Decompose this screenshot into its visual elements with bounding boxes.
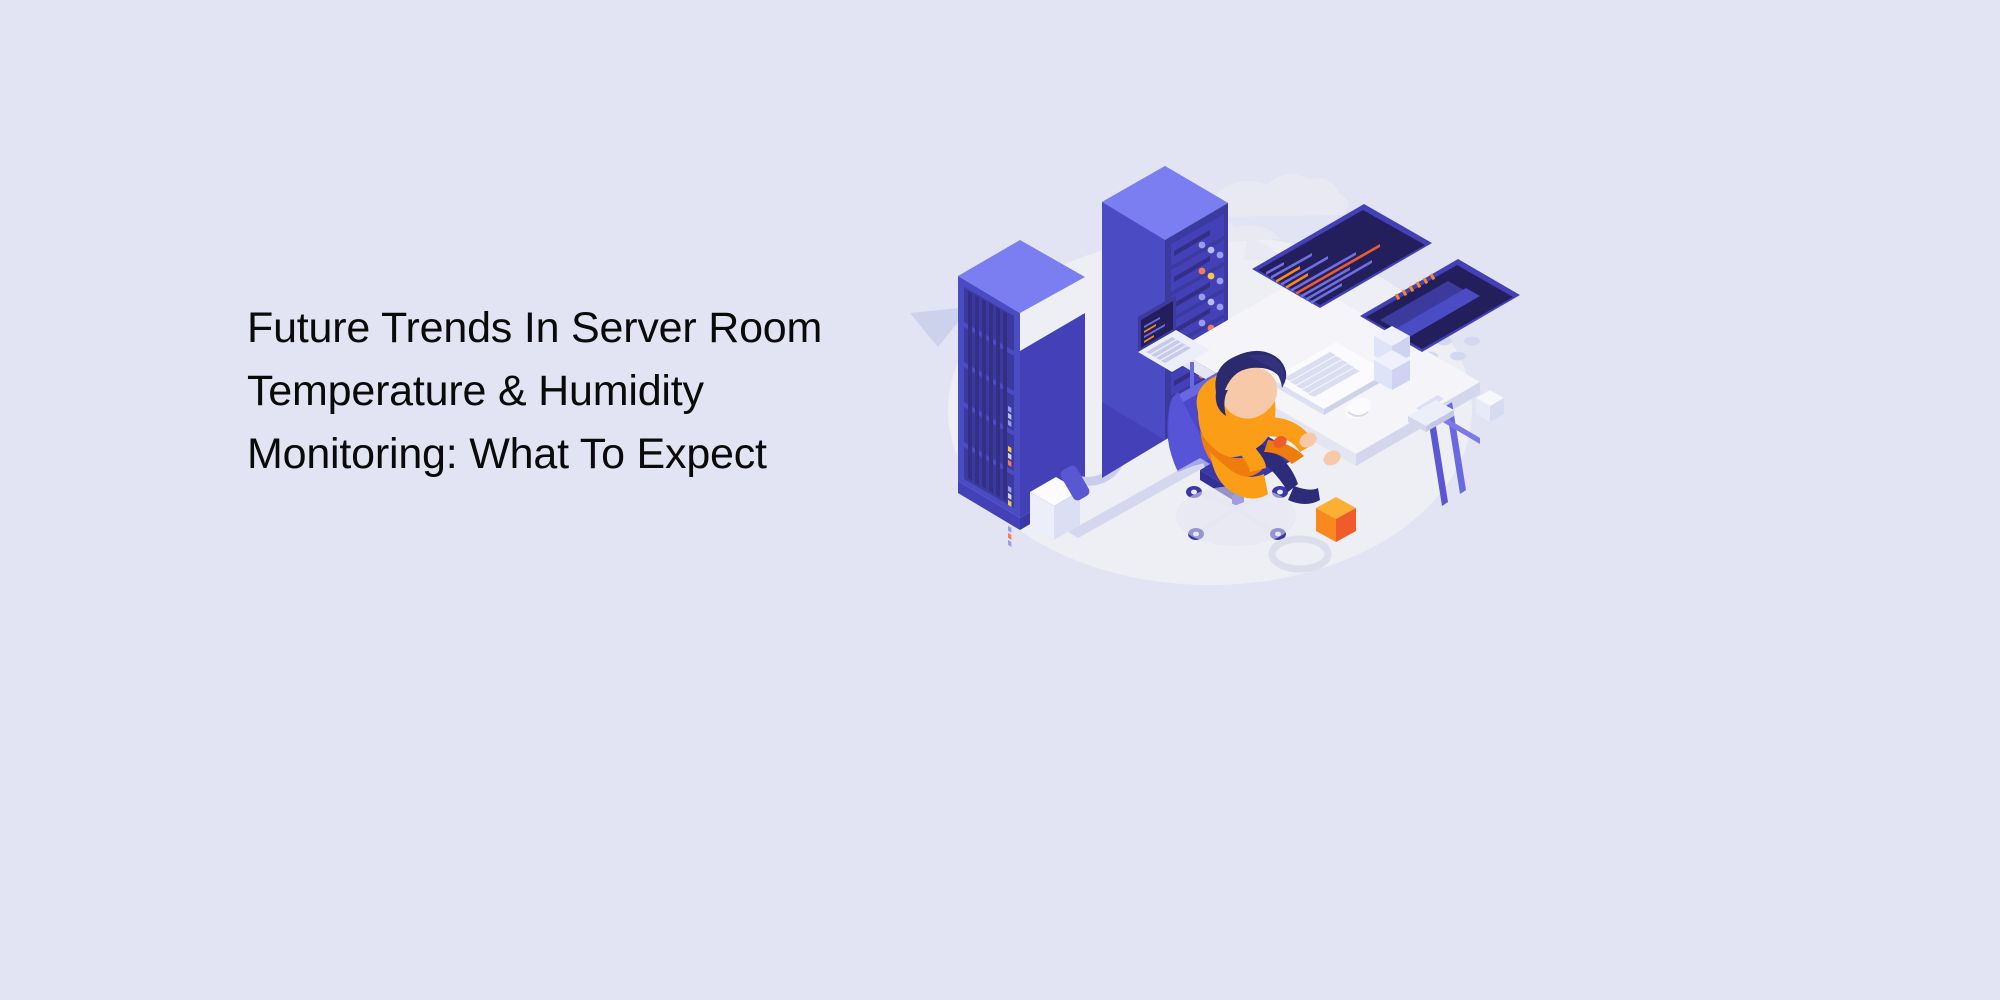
- page-title: Future Trends In Server Room Temperature…: [247, 297, 887, 486]
- isometric-server-room-illustration: [880, 140, 1520, 610]
- headline-line-3: Monitoring: What To Expect: [247, 423, 887, 486]
- headline-line-2: Temperature & Humidity: [247, 360, 887, 423]
- stacked-cubes: [1374, 326, 1410, 390]
- small-white-box: [1476, 390, 1504, 422]
- hero-banner: Future Trends In Server Room Temperature…: [0, 0, 2000, 1000]
- headline-line-1: Future Trends In Server Room: [247, 297, 887, 360]
